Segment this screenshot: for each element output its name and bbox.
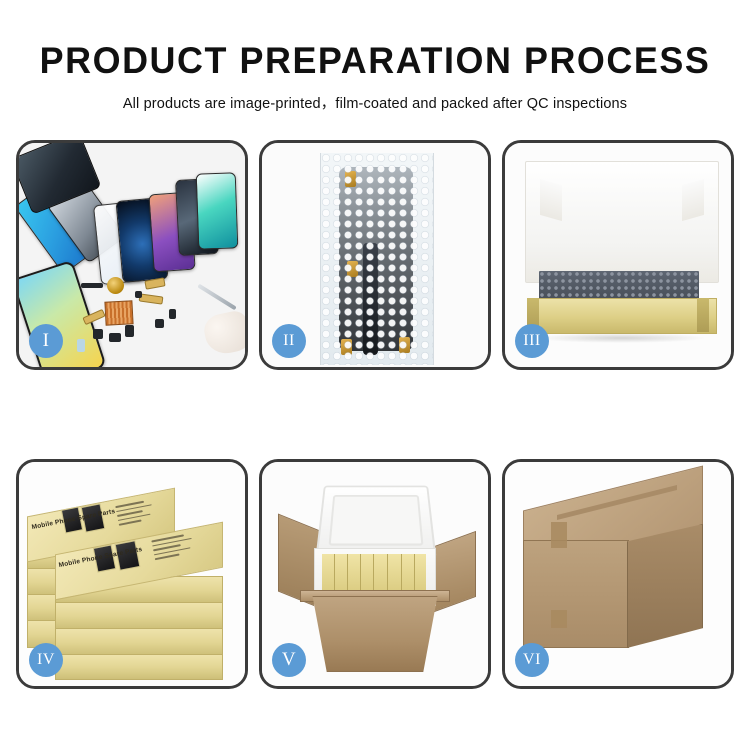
step-panel-4: Mobile Phone Spare Parts Mobile Phone Sp… [16, 459, 248, 689]
carton-front-face-icon [523, 540, 629, 648]
speaker-coil-part-icon [107, 277, 124, 294]
small-component-icon [169, 309, 176, 319]
step-badge-6: VI [515, 643, 549, 677]
step-panel-2: II [259, 140, 491, 370]
step-panel-3: III [502, 140, 734, 370]
carton-tape-lower-icon [551, 610, 567, 628]
step-badge-5: V [272, 643, 306, 677]
phone-teal-screen-icon [196, 172, 239, 249]
carton-body-icon [304, 596, 446, 672]
small-component-icon [155, 319, 164, 328]
step-badge-3: III [515, 324, 549, 358]
step-panel-5: V [259, 459, 491, 689]
box-base-side-right-icon [697, 298, 709, 332]
foam-padding-icon [539, 271, 699, 301]
step-panel-1: I [16, 140, 248, 370]
step-badge-4: IV [29, 643, 63, 677]
product-preparation-infographic: PRODUCT PREPARATION PROCESS All products… [0, 0, 750, 750]
box-yellow-base-icon [527, 298, 717, 334]
lid-flap-right-icon [682, 179, 704, 221]
carton-tape-upper-icon [551, 522, 567, 548]
small-component-icon [135, 291, 142, 298]
page-subtitle: All products are image-printed，film-coat… [0, 81, 750, 113]
page-title: PRODUCT PREPARATION PROCESS [11, 0, 739, 81]
bubble-wrap-bag-icon [320, 153, 434, 365]
drop-shadow [535, 333, 707, 343]
step-badge-1: I [29, 324, 63, 358]
process-steps-grid: I II [16, 140, 734, 689]
bubble-texture-icon [321, 153, 433, 365]
step-badge-2: II [272, 324, 306, 358]
small-component-icon [77, 339, 85, 352]
foam-lid-icon [315, 486, 436, 558]
small-component-icon [93, 329, 103, 339]
lid-flap-left-icon [540, 179, 562, 221]
step-panel-6: VI [502, 459, 734, 689]
small-component-icon [109, 333, 121, 342]
small-component-icon [125, 325, 134, 337]
chip-array-part-icon [104, 300, 133, 325]
carton-side-face-icon [627, 524, 703, 648]
box-white-lid-icon [525, 161, 719, 283]
header: PRODUCT PREPARATION PROCESS All products… [0, 0, 750, 113]
small-component-icon [81, 283, 103, 288]
